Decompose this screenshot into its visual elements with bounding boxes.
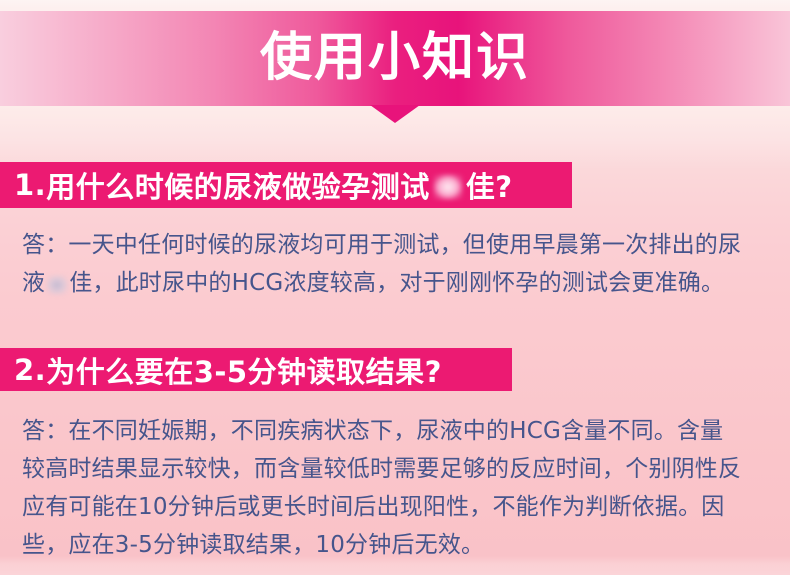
- faq-answer-segment: 佳，此时尿中的HCG浓度较高，对于刚刚怀孕的测试会更准确。: [69, 270, 724, 296]
- faq-question-text-2a: 为什么要在3-5分钟读取结果?: [46, 349, 442, 391]
- page-title: 使用小知识: [0, 11, 790, 106]
- faq-question-number-2: 2.: [14, 353, 46, 387]
- censored-character-icon: [433, 174, 463, 200]
- faq-question-text-1b: 佳?: [466, 164, 513, 206]
- faq-question-text-1a: 用什么时候的尿液做验孕测试: [46, 164, 430, 206]
- faq-answer-line: 答：在不同妊娠期，不同疾病状态下，尿液中的HCG含量不同。含量: [22, 412, 772, 450]
- faq-answer-2: 答：在不同妊娠期，不同疾病状态下，尿液中的HCG含量不同。含量 较高时结果显示较…: [22, 412, 772, 564]
- faq-answer-segment: 液: [22, 270, 45, 296]
- promo-page: 使用小知识 1. 用什么时候的尿液做验孕测试 佳? 答：一天中任何时候的尿液均可…: [0, 0, 790, 575]
- banner-arrow-down-icon: [370, 105, 420, 123]
- faq-answer-line: 答：一天中任何时候的尿液均可用于测试，但使用早晨第一次排出的尿: [22, 226, 772, 264]
- faq-answer-line: 应有可能在10分钟后或更长时间后出现阳性，不能作为判断依据。因: [22, 488, 772, 526]
- faq-answer-line: 较高时结果显示较快，而含量较低时需要足够的反应时间，个别阴性反: [22, 450, 772, 488]
- faq-answer-1: 答：一天中任何时候的尿液均可用于测试，但使用早晨第一次排出的尿 液佳，此时尿中的…: [22, 226, 772, 302]
- faq-answer-line: 液佳，此时尿中的HCG浓度较高，对于刚刚怀孕的测试会更准确。: [22, 264, 772, 302]
- header-banner: 使用小知识: [0, 11, 790, 106]
- censored-character-icon: [46, 275, 68, 295]
- faq-question-bar-1: 1. 用什么时候的尿液做验孕测试 佳?: [0, 162, 572, 208]
- faq-question-bar-2: 2. 为什么要在3-5分钟读取结果?: [0, 348, 512, 391]
- faq-answer-line: 些，应在3-5分钟读取结果，10分钟后无效。: [22, 526, 772, 564]
- faq-question-number-1: 1.: [14, 168, 46, 202]
